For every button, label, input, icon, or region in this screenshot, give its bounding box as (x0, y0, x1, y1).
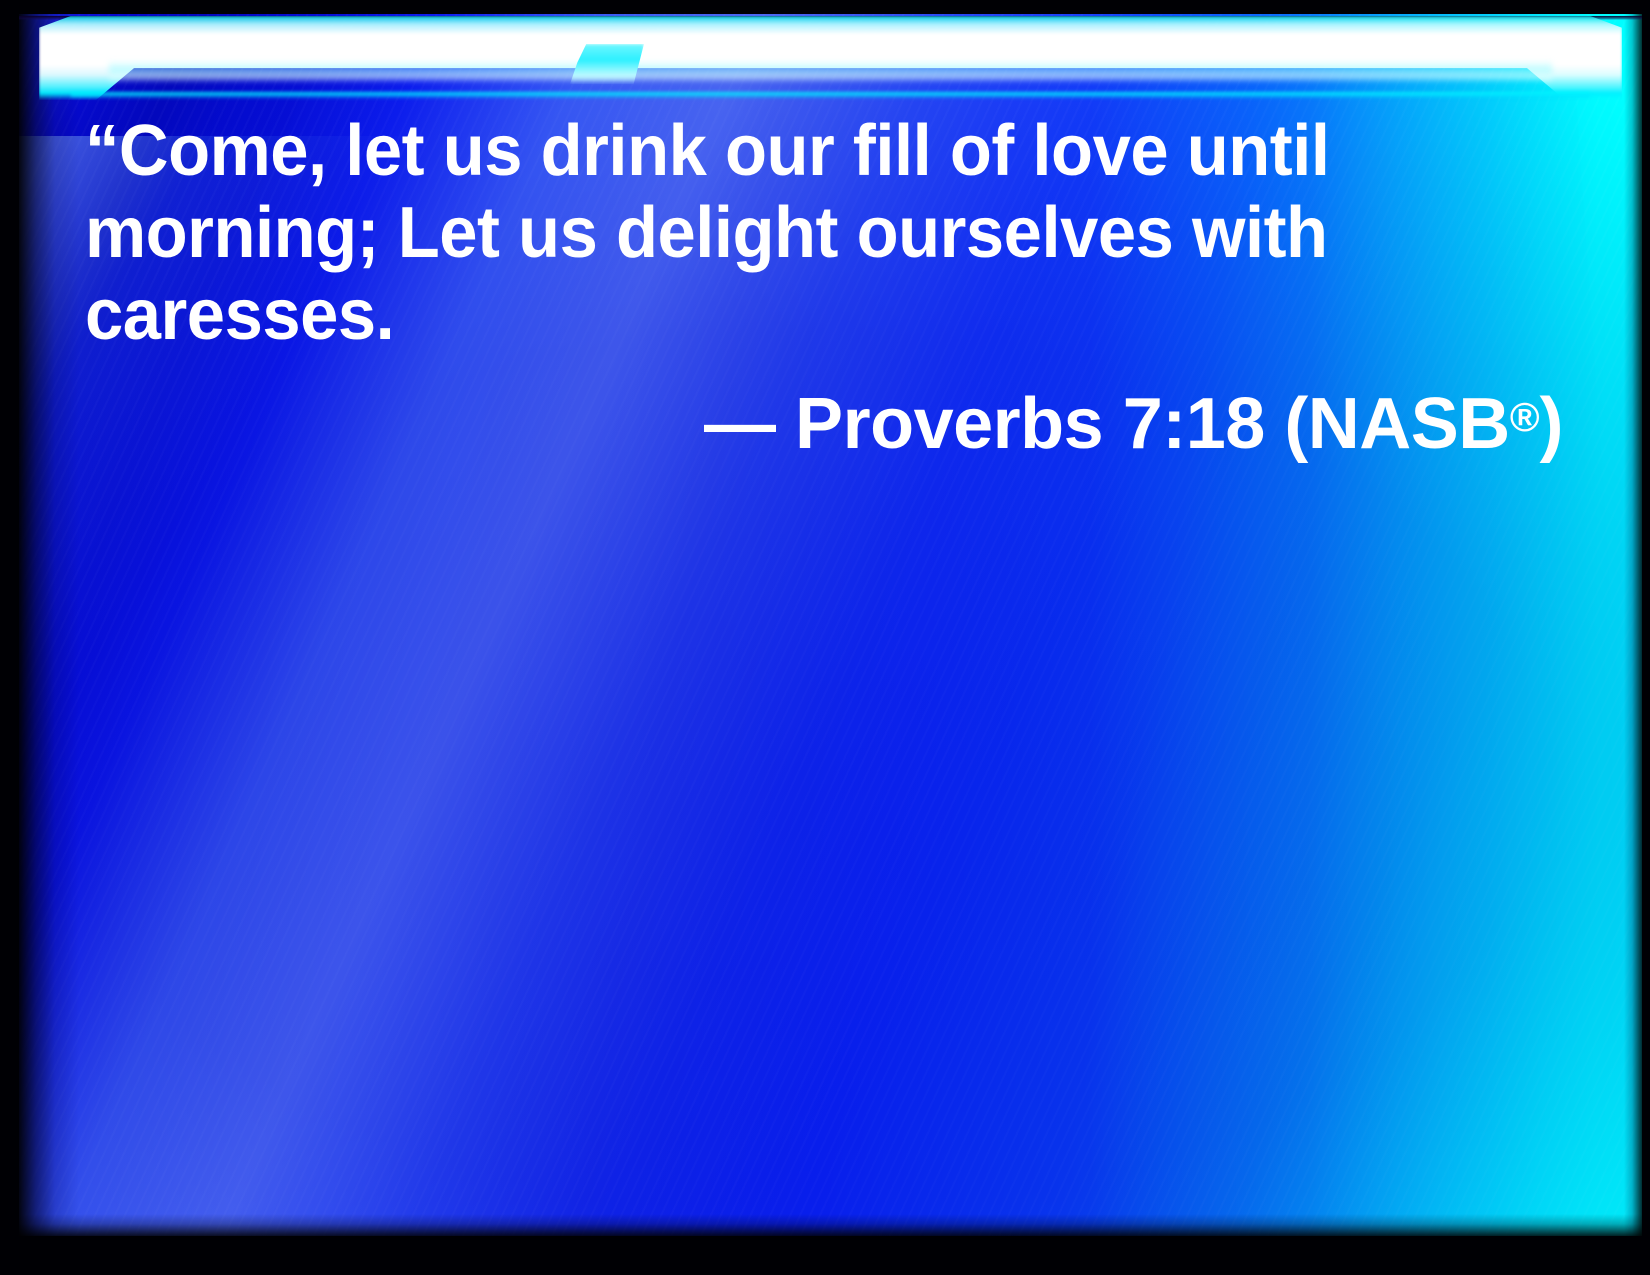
scripture-slide: “Come, let us drink our fill of love unt… (0, 0, 1650, 1275)
slide-artwork-panel: “Come, let us drink our fill of love unt… (19, 14, 1642, 1236)
slide-text-layer: “Come, let us drink our fill of love unt… (19, 14, 1642, 1236)
attribution-prefix: — Proverbs 7:18 (NASB (704, 384, 1510, 464)
registered-trademark-icon: ® (1510, 394, 1540, 440)
verse-attribution: — Proverbs 7:18 (NASB®) (85, 376, 1563, 465)
attribution-suffix: ) (1540, 384, 1563, 464)
verse-body-text: “Come, let us drink our fill of love unt… (85, 110, 1346, 356)
